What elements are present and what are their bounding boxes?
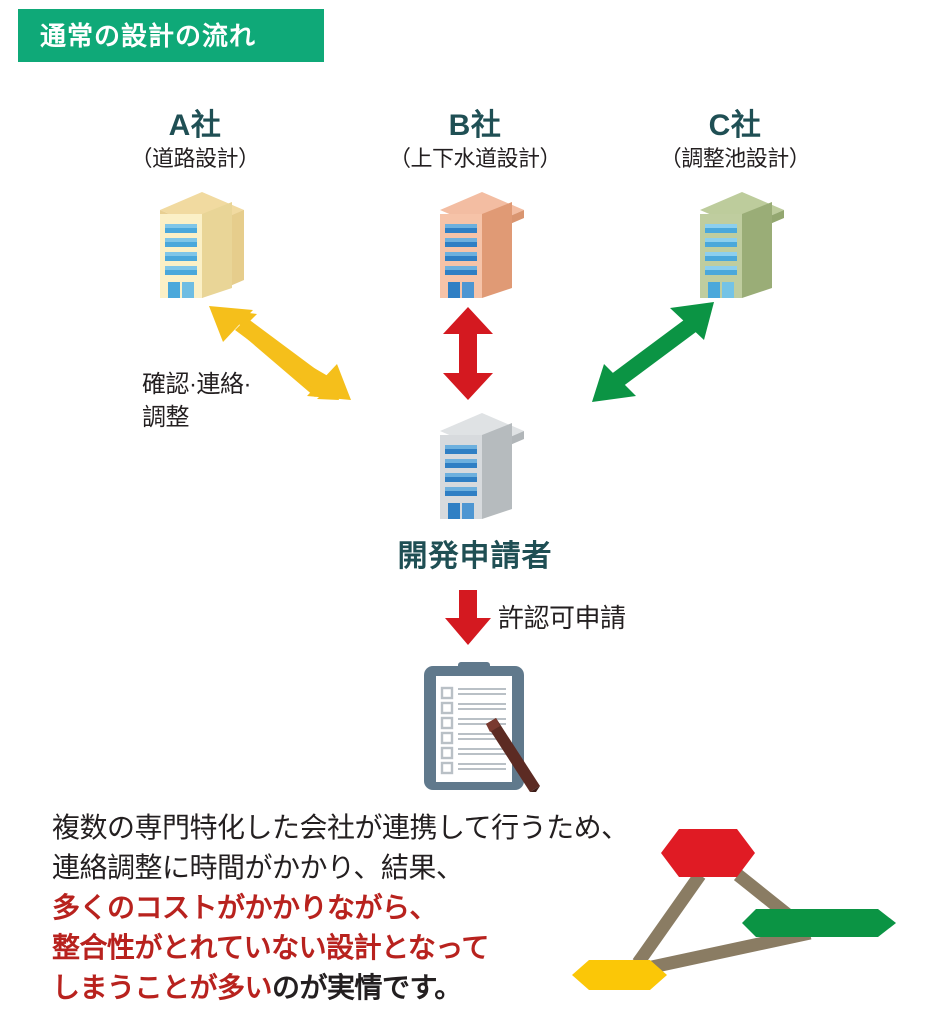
description-line-2: 連絡調整に時間がかかり、結果、 bbox=[52, 848, 612, 888]
applicant-building bbox=[345, 405, 605, 527]
network-node-red bbox=[661, 829, 755, 877]
company-b-building bbox=[345, 184, 605, 304]
double-arrow-diagonal-icon bbox=[590, 300, 720, 405]
network-node-yellow bbox=[572, 960, 667, 990]
company-c-subtitle: （調整池設計） bbox=[605, 144, 865, 175]
description-block: 複数の専門特化した会社が連携して行うため、 連絡調整に時間がかかり、結果、 多く… bbox=[52, 808, 612, 1008]
network-link-red-yellow bbox=[638, 875, 700, 963]
company-block-c: C社 （調整池設計） bbox=[605, 110, 865, 304]
company-c-name: C社 bbox=[605, 110, 865, 142]
network-node-green bbox=[742, 909, 896, 937]
description-line-3: 多くのコストがかかりながら、 bbox=[52, 888, 612, 928]
company-a-building bbox=[65, 184, 325, 304]
arrow-down-icon bbox=[443, 590, 493, 645]
company-a-name: A社 bbox=[65, 110, 325, 142]
office-building-icon bbox=[420, 184, 530, 302]
arrow-label-coordination: 確認·連絡· 調整 bbox=[142, 368, 332, 434]
network-link-yellow-green bbox=[652, 933, 810, 967]
office-building-icon bbox=[140, 184, 250, 302]
applicant-block: 開発申請者 bbox=[345, 405, 605, 575]
company-c-building bbox=[605, 184, 865, 304]
network-nodes-icon bbox=[560, 815, 937, 1024]
arrow-label-permit: 許認可申請 bbox=[498, 601, 626, 637]
arrow-label-coordination-line1: 確認·連絡· bbox=[142, 368, 332, 401]
description-line-5-tail: のが実情です。 bbox=[272, 972, 462, 1003]
office-building-icon bbox=[420, 405, 530, 525]
applicant-name: 開発申請者 bbox=[345, 531, 605, 575]
company-block-b: B社 （上下水道設計） bbox=[345, 110, 605, 304]
company-block-a: A社 （道路設計） bbox=[65, 110, 325, 304]
infographic-page: 通常の設計の流れ A社 （道路設計） bbox=[0, 0, 937, 1024]
description-line-5-emphasis: しまうことが多い bbox=[52, 972, 272, 1003]
arrow-label-coordination-line2: 調整 bbox=[142, 401, 332, 434]
header-banner: 通常の設計の流れ bbox=[18, 9, 324, 62]
office-building-icon bbox=[680, 184, 790, 302]
page-title: 通常の設計の流れ bbox=[40, 23, 256, 49]
double-arrow-vertical-icon bbox=[437, 307, 499, 400]
description-line-5: しまうことが多いのが実情です。 bbox=[52, 968, 612, 1008]
clipboard-checklist-icon bbox=[410, 658, 550, 793]
company-b-name: B社 bbox=[345, 110, 605, 142]
company-b-subtitle: （上下水道設計） bbox=[345, 144, 605, 175]
description-line-1: 複数の専門特化した会社が連携して行うため、 bbox=[52, 808, 612, 848]
company-a-subtitle: （道路設計） bbox=[65, 144, 325, 175]
description-line-4: 整合性がとれていない設計となって bbox=[52, 928, 612, 968]
